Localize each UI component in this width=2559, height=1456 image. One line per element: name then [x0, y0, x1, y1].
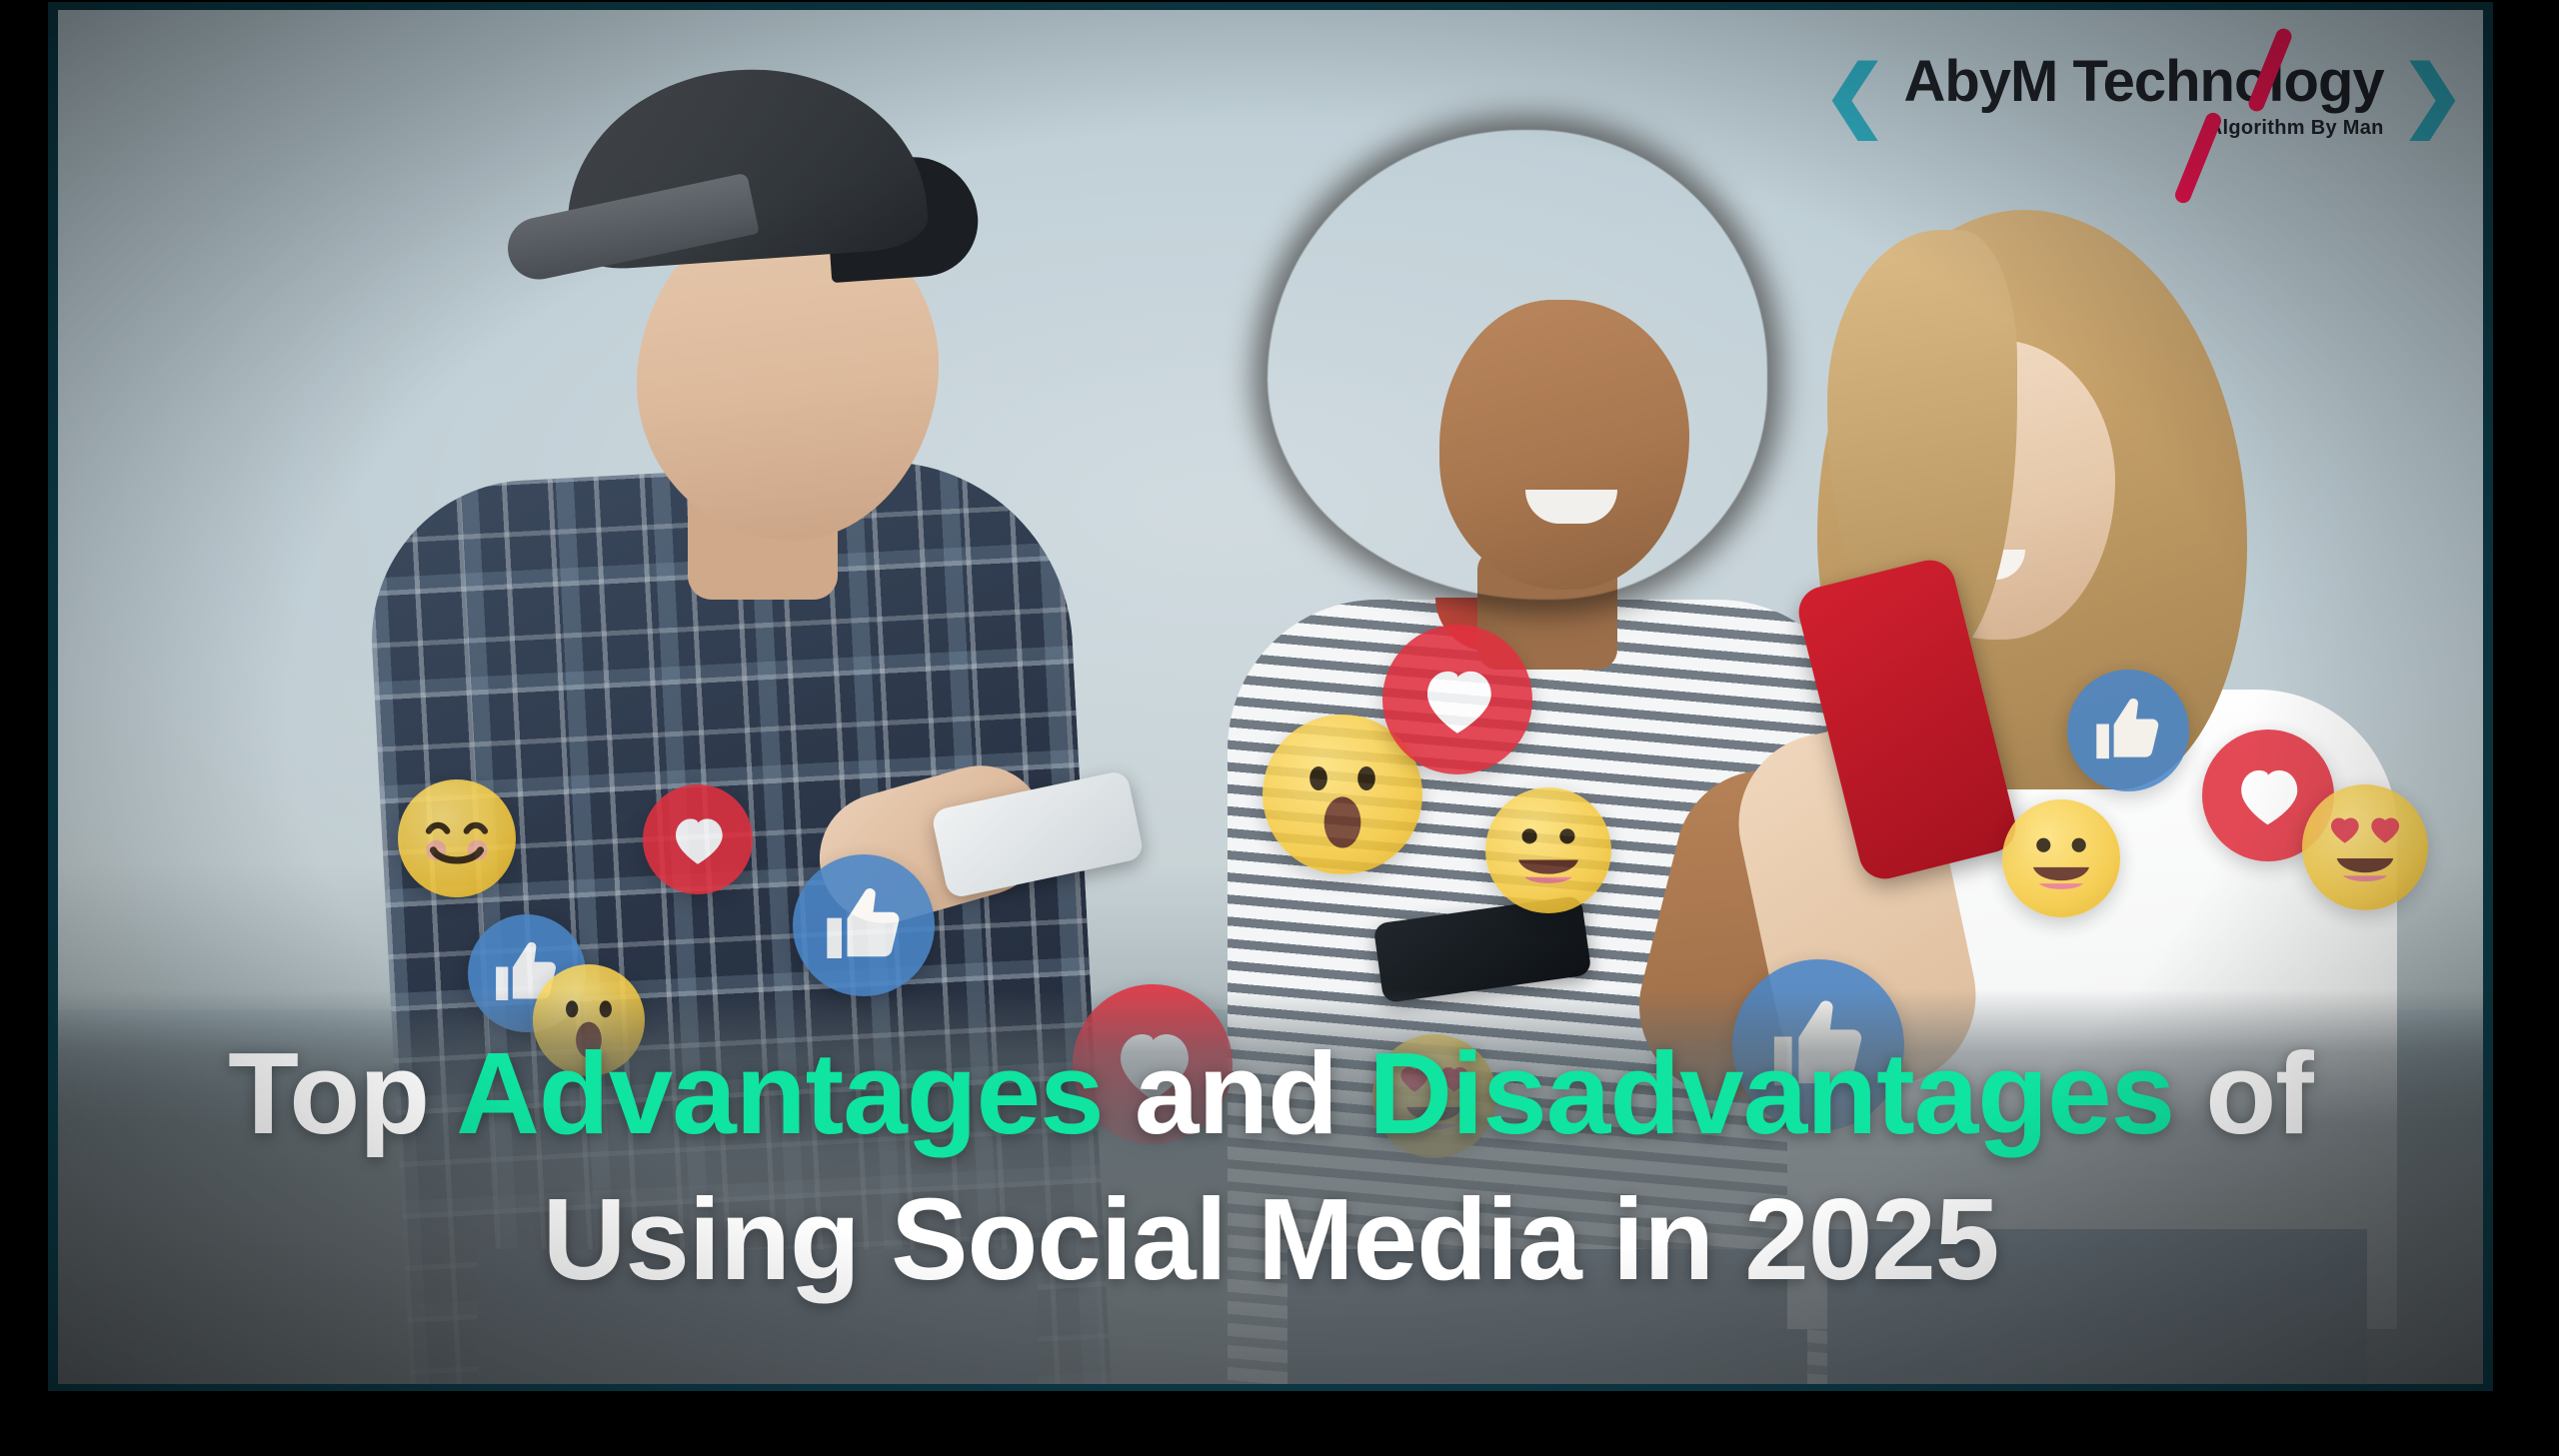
brand-tagline: Algorithm By Man — [1903, 117, 2383, 140]
title-line-2: Using Social Media in 2025 — [118, 1175, 2423, 1305]
blush-smile-emoji — [398, 779, 516, 897]
page-title: Top Advantages and Disadvantages of Usin… — [58, 1029, 2483, 1305]
grin-emoji-center — [1485, 787, 1611, 913]
curly-hair — [1268, 130, 1767, 600]
chevron-left-icon: ❮ — [1822, 55, 1887, 133]
title-word-and: and — [1104, 1028, 1369, 1158]
title-word-disadvantages: Disadvantages — [1368, 1028, 2174, 1158]
title-word-top: Top — [228, 1028, 456, 1158]
heart-reaction-top — [1382, 625, 1532, 774]
heart-reaction-left — [643, 784, 753, 894]
title-line-1: Top Advantages and Disadvantages of — [118, 1029, 2423, 1159]
heart-eyes-right — [2302, 784, 2428, 910]
hero-image: Top Advantages and Disadvantages of Usin… — [58, 10, 2483, 1384]
thumbs-up-left-big — [793, 854, 935, 996]
screenshot-root: Top Advantages and Disadvantages of Usin… — [0, 0, 2559, 1456]
chevron-right-icon: ❯ — [2400, 55, 2465, 133]
title-word-of: of — [2174, 1028, 2313, 1158]
banner-frame: Top Advantages and Disadvantages of Usin… — [48, 2, 2493, 1391]
title-word-advantages: Advantages — [456, 1028, 1104, 1158]
brand-logo[interactable]: ❮ AbyM Technology Algorithm By Man ❯ — [1822, 34, 2465, 154]
grin-emoji-right — [2002, 799, 2120, 917]
logo-text-block: AbyM Technology Algorithm By Man — [1895, 48, 2391, 140]
thumbs-up-right-top — [2067, 670, 2189, 791]
brand-name: AbyM Technology — [1903, 48, 2383, 115]
